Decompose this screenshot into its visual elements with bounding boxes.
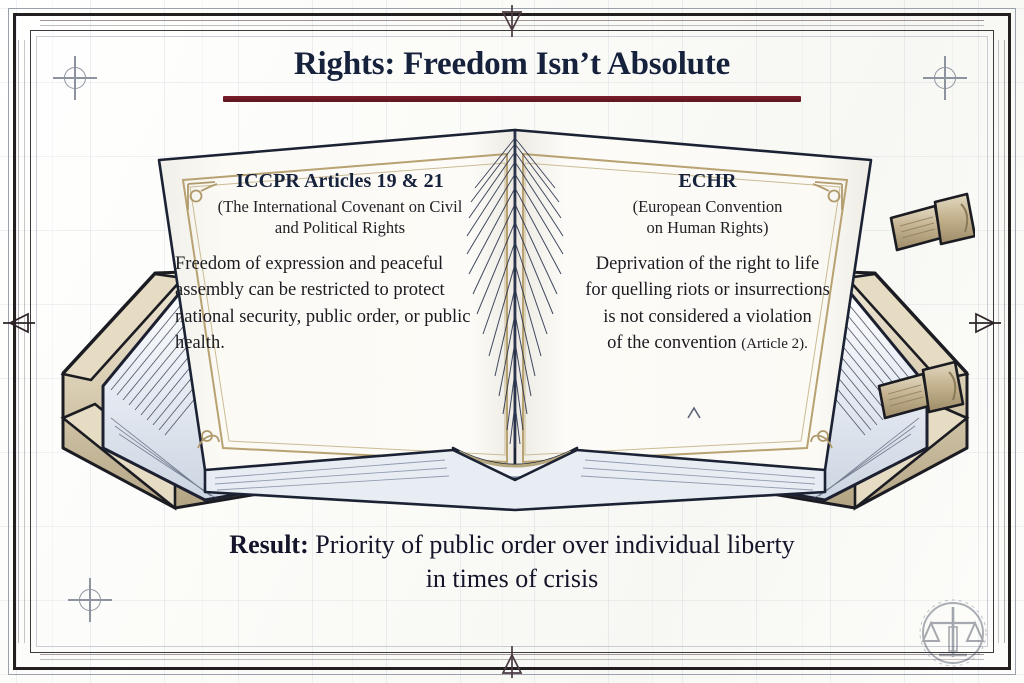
result-line1: Priority of public order over individual… xyxy=(309,530,795,559)
right-page-body-citation: (Article 2). xyxy=(741,336,808,352)
result-line2: in times of crisis xyxy=(426,564,599,593)
open-book-illustration: ICCPR Articles 19 & 21 (The Internationa… xyxy=(55,118,975,518)
down-triangle-marker-icon xyxy=(497,4,527,38)
right-page-body-line4: of the convention xyxy=(607,333,736,353)
left-page-heading: ICCPR Articles 19 & 21 xyxy=(175,170,505,193)
title-underline xyxy=(223,96,801,102)
right-page-body-line1: Deprivation of the right to life xyxy=(596,254,819,274)
right-page-heading: ECHR xyxy=(535,170,880,193)
right-page-text-block: ECHR (European Convention on Human Right… xyxy=(535,170,880,356)
right-page-subtitle: (European Convention on Human Rights) xyxy=(535,196,880,238)
page-title: Rights: Freedom Isn’t Absolute xyxy=(0,46,1024,83)
upper-clasp-shape xyxy=(891,194,975,250)
left-page-subtitle: (The International Covenant on Civil and… xyxy=(175,196,505,238)
left-page-text-block: ICCPR Articles 19 & 21 (The Internationa… xyxy=(175,170,505,356)
result-label: Result: xyxy=(229,530,308,559)
right-page-body: Deprivation of the right to life for que… xyxy=(535,251,880,356)
scales-of-justice-icon xyxy=(917,597,989,669)
right-page-subtitle-line2: on Human Rights) xyxy=(647,218,769,237)
right-page-body-line2: for quelling riots or insurrections xyxy=(585,280,830,300)
left-arrow-marker-icon xyxy=(2,308,36,338)
up-triangle-marker-icon xyxy=(497,645,527,679)
left-page-body: Freedom of expression and peaceful assem… xyxy=(175,251,505,356)
right-page-body-line3: is not considered a violation xyxy=(603,307,812,327)
left-page-subtitle-line2: and Political Rights xyxy=(275,218,405,237)
slide-canvas: Rights: Freedom Isn’t Absolute xyxy=(0,0,1024,683)
result-statement: Result: Priority of public order over in… xyxy=(0,528,1024,597)
right-page-subtitle-line1: (European Convention xyxy=(633,197,783,216)
left-page-subtitle-line1: (The International Covenant on Civil xyxy=(218,197,463,216)
